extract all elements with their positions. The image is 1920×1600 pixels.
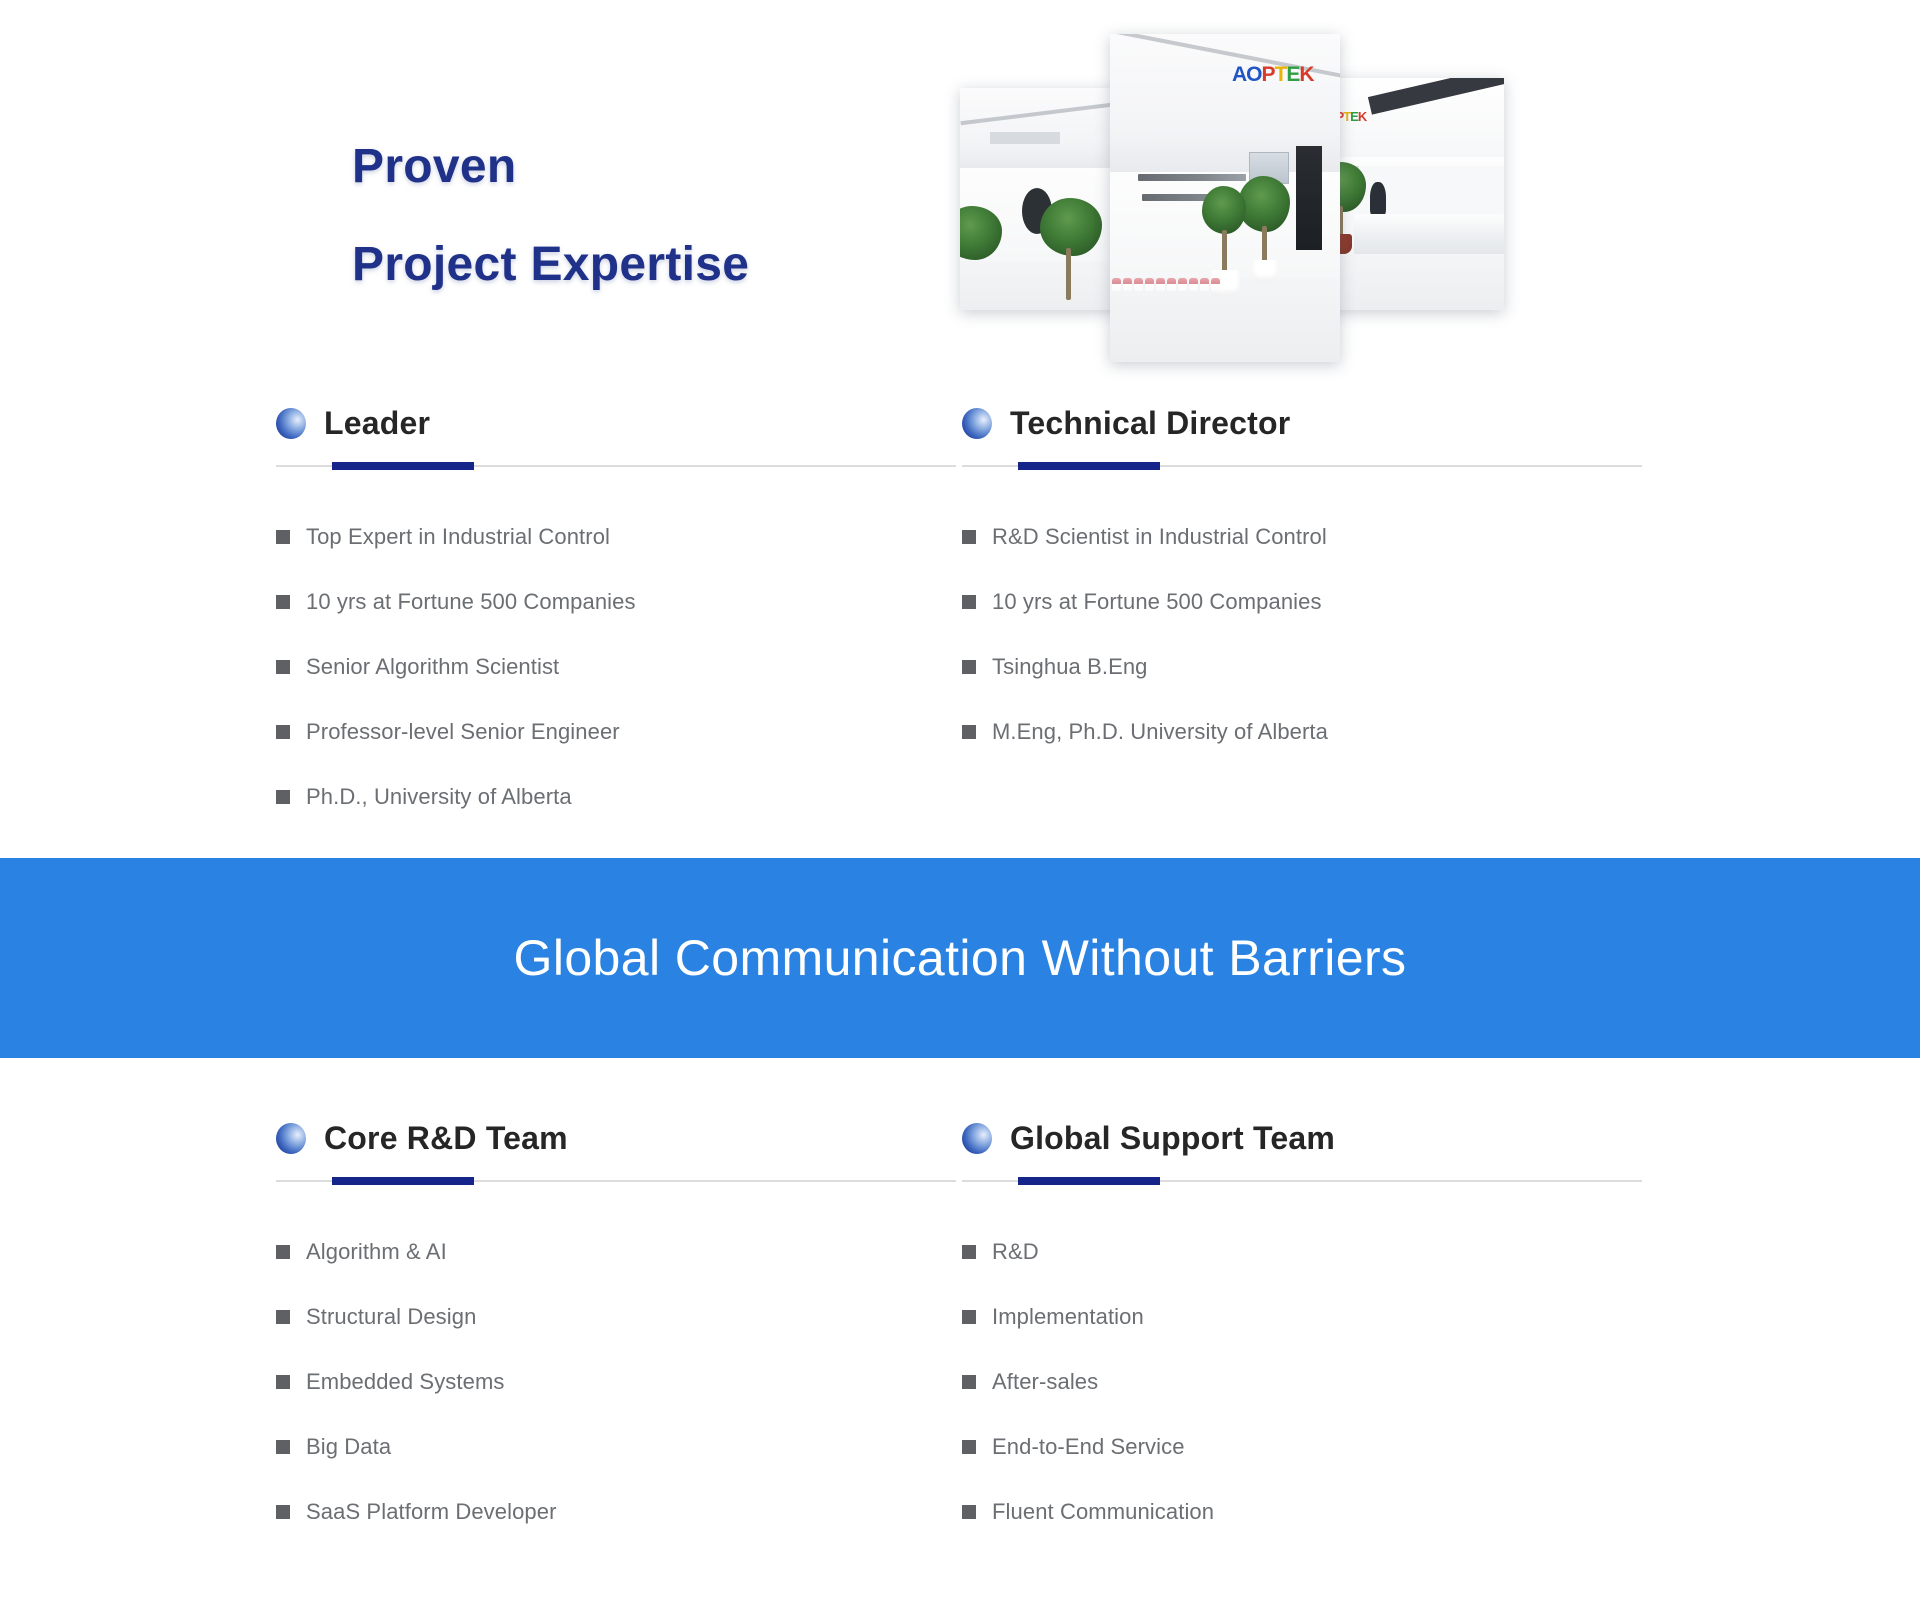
section-divider [276,1177,956,1185]
square-bullet-icon [962,1375,976,1389]
square-bullet-icon [962,1440,976,1454]
square-bullet-icon [962,595,976,609]
list-item-label: Professor-level Senior Engineer [306,719,620,745]
plant-trunk [1262,226,1267,262]
list-item-label: R&D [992,1239,1039,1265]
bullet-list: Top Expert in Industrial Control 10 yrs … [276,504,956,829]
doorway [1296,146,1322,250]
list-item-label: Senior Algorithm Scientist [306,654,559,680]
ceiling-brand-logo: AOPTEK [1232,64,1314,85]
list-item: 10 yrs at Fortune 500 Companies [962,569,1642,634]
ceiling-vent [990,132,1060,144]
column-global-support-team: Global Support Team R&D Implementation [962,1115,1642,1544]
list-item: Fluent Communication [962,1479,1642,1544]
sphere-bullet-icon [276,1123,306,1154]
section-title: Technical Director [1010,405,1290,442]
square-bullet-icon [276,1310,290,1324]
list-item: Algorithm & AI [276,1219,956,1284]
list-item-label: Embedded Systems [306,1369,504,1395]
floor [1312,254,1504,310]
list-item-label: Structural Design [306,1304,476,1330]
list-item-label: Fluent Communication [992,1499,1214,1525]
square-bullet-icon [276,1245,290,1259]
section-header: Technical Director [962,400,1642,446]
list-item: R&D Scientist in Industrial Control [962,504,1642,569]
list-item: Structural Design [276,1284,956,1349]
list-item: 10 yrs at Fortune 500 Companies [276,569,956,634]
sphere-bullet-icon [962,1123,992,1154]
section-divider [276,462,956,470]
receptionist-figure [1370,182,1386,216]
list-item-label: R&D Scientist in Industrial Control [992,524,1327,550]
reception-desk [1354,214,1504,256]
plant-foliage [1040,198,1102,256]
list-item-label: End-to-End Service [992,1434,1185,1460]
page-root: Proven Project Expertise [0,0,1920,1600]
divider-accent [1018,1177,1160,1185]
list-item: M.Eng, Ph.D. University of Alberta [962,699,1642,764]
column-leader: Leader Top Expert in Industrial Control … [276,400,956,829]
list-item-label: Tsinghua B.Eng [992,654,1148,680]
list-item: End-to-End Service [962,1414,1642,1479]
square-bullet-icon [962,1310,976,1324]
company-sign-line-1 [1138,174,1246,181]
list-item-label: 10 yrs at Fortune 500 Companies [992,589,1322,615]
plant-trunk [1066,248,1071,300]
list-item: R&D [962,1219,1642,1284]
divider-accent [1018,462,1160,470]
square-bullet-icon [276,1440,290,1454]
list-item-label: M.Eng, Ph.D. University of Alberta [992,719,1328,745]
list-item: Professor-level Senior Engineer [276,699,956,764]
divider-accent [332,462,474,470]
square-bullet-icon [276,530,290,544]
section-header: Leader [276,400,956,446]
section-title: Leader [324,405,430,442]
square-bullet-icon [276,1505,290,1519]
collage-photo-center: AOPTEK [1110,34,1340,362]
divider-accent [332,1177,474,1185]
plant-foliage [1202,186,1246,234]
section-divider [962,462,1642,470]
section-divider [962,1177,1642,1185]
square-bullet-icon [276,660,290,674]
column-core-rd-team: Core R&D Team Algorithm & AI Structural … [276,1115,956,1544]
page-title-line-1: Proven [352,140,517,193]
section-title: Global Support Team [1010,1120,1335,1157]
section-header: Global Support Team [962,1115,1642,1161]
list-item-label: 10 yrs at Fortune 500 Companies [306,589,636,615]
sphere-bullet-icon [962,408,992,439]
list-item: Implementation [962,1284,1642,1349]
page-title: Proven Project Expertise [352,118,749,314]
list-item: Big Data [276,1414,956,1479]
collage-photo-right: AOPTEK [1312,78,1504,310]
list-item: Tsinghua B.Eng [962,634,1642,699]
square-bullet-icon [962,660,976,674]
square-bullet-icon [276,595,290,609]
plant-pot [1252,260,1278,282]
section-header: Core R&D Team [276,1115,956,1161]
list-item-label: Big Data [306,1434,391,1460]
plant-trunk [1222,230,1227,274]
bullet-list: R&D Scientist in Industrial Control 10 y… [962,504,1642,764]
bullet-list: R&D Implementation After-sales End-to-En… [962,1219,1642,1544]
square-bullet-icon [276,1375,290,1389]
list-item-label: Top Expert in Industrial Control [306,524,610,550]
list-item: Top Expert in Industrial Control [276,504,956,569]
sphere-bullet-icon [276,408,306,439]
global-communication-banner: Global Communication Without Barriers [0,858,1920,1058]
list-item: Senior Algorithm Scientist [276,634,956,699]
photo-collage: AOPTEK [960,34,1505,369]
reception-desk-image: AOPTEK [1312,78,1504,310]
page-title-line-2: Project Expertise [352,216,749,314]
list-item: Ph.D., University of Alberta [276,764,956,829]
list-item-label: Algorithm & AI [306,1239,447,1265]
list-item-label: SaaS Platform Developer [306,1499,557,1525]
list-item-label: After-sales [992,1369,1098,1395]
column-technical-director: Technical Director R&D Scientist in Indu… [962,400,1642,764]
list-item-label: Ph.D., University of Alberta [306,784,572,810]
bullet-list: Algorithm & AI Structural Design Embedde… [276,1219,956,1544]
potted-flower-row [1112,278,1220,291]
square-bullet-icon [962,530,976,544]
square-bullet-icon [276,725,290,739]
section-title: Core R&D Team [324,1120,568,1157]
hero-section: Proven Project Expertise [0,0,1920,380]
list-item: After-sales [962,1349,1642,1414]
list-item: SaaS Platform Developer [276,1479,956,1544]
office-lobby-image: AOPTEK [1110,34,1340,362]
square-bullet-icon [962,725,976,739]
square-bullet-icon [962,1245,976,1259]
square-bullet-icon [962,1505,976,1519]
plant-foliage [1238,176,1290,232]
square-bullet-icon [276,790,290,804]
banner-title: Global Communication Without Barriers [514,929,1407,987]
list-item-label: Implementation [992,1304,1144,1330]
list-item: Embedded Systems [276,1349,956,1414]
